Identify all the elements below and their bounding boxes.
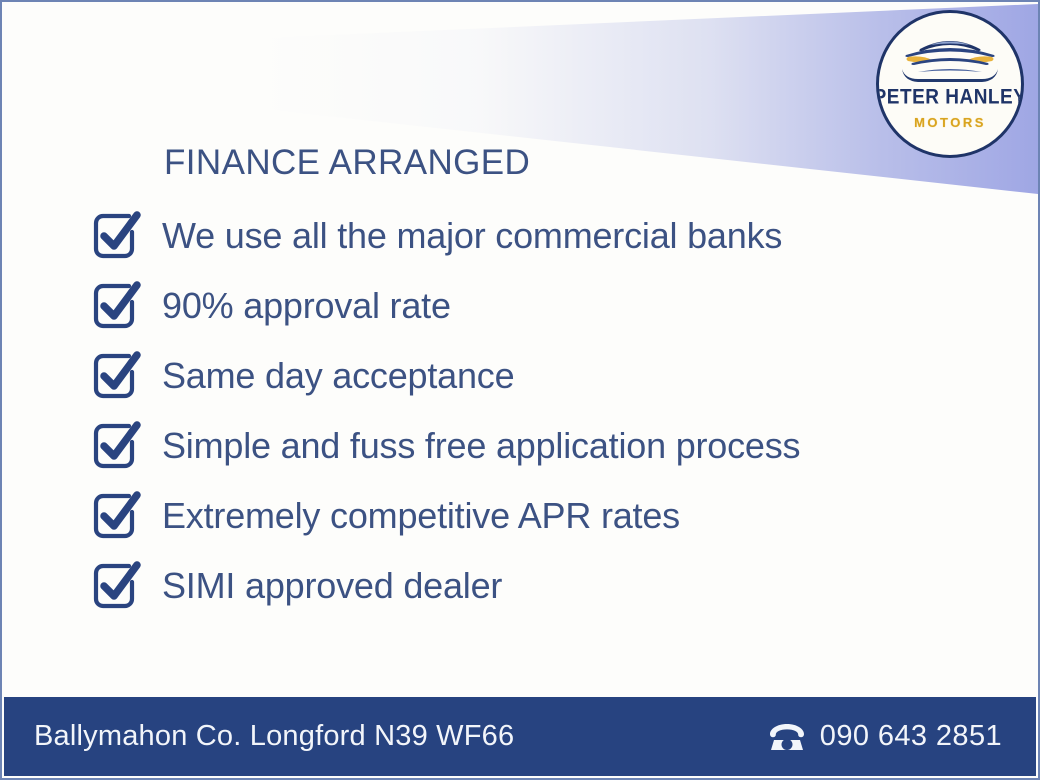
brand-logo: PETER HANLEY MOTORS <box>876 10 1024 158</box>
checkbox-checked-icon <box>90 420 144 472</box>
main-content: FINANCE ARRANGED We use all the major co… <box>90 144 998 621</box>
list-item-label: Same day acceptance <box>162 358 514 394</box>
advert-page: PETER HANLEY MOTORS FINANCE ARRANGED We … <box>0 0 1040 780</box>
list-item-label: Extremely competitive APR rates <box>162 498 680 534</box>
list-item-label: SIMI approved dealer <box>162 568 502 604</box>
phone-number: 090 643 2851 <box>820 720 1002 753</box>
list-item: 90% approval rate <box>90 271 998 341</box>
list-item: SIMI approved dealer <box>90 551 998 621</box>
checkbox-checked-icon <box>90 350 144 402</box>
list-item-label: Simple and fuss free application process <box>162 428 800 464</box>
list-item: Extremely competitive APR rates <box>90 481 998 551</box>
logo-brand-subtitle: MOTORS <box>914 115 986 130</box>
car-front-icon <box>890 29 1010 85</box>
list-item: We use all the major commercial banks <box>90 201 998 271</box>
page-title: FINANCE ARRANGED <box>164 144 998 183</box>
feature-list: We use all the major commercial banks 90… <box>90 201 998 621</box>
checkbox-checked-icon <box>90 280 144 332</box>
telephone-icon <box>768 722 806 752</box>
footer-bar: Ballymahon Co. Longford N39 WF66 090 643… <box>4 697 1036 776</box>
list-item-label: We use all the major commercial banks <box>162 218 782 254</box>
list-item: Same day acceptance <box>90 341 998 411</box>
checkbox-checked-icon <box>90 490 144 542</box>
logo-brand-name: PETER HANLEY <box>876 86 1024 111</box>
checkbox-checked-icon <box>90 560 144 612</box>
dealer-phone[interactable]: 090 643 2851 <box>768 720 1002 753</box>
checkbox-checked-icon <box>90 210 144 262</box>
list-item: Simple and fuss free application process <box>90 411 998 481</box>
list-item-label: 90% approval rate <box>162 288 451 324</box>
dealer-address: Ballymahon Co. Longford N39 WF66 <box>34 720 514 753</box>
